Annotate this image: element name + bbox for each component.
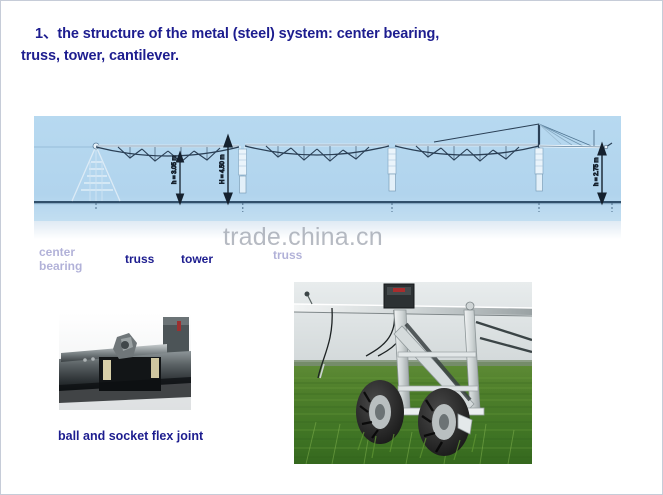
diagram-label-tower: tower bbox=[181, 253, 213, 267]
irrigation-system-diagram: h = 3.05 m H = 4.50 m bbox=[34, 116, 621, 221]
diagram-label-center-bearing: center bearing bbox=[39, 246, 82, 274]
photo-ball-and-socket-flex-joint bbox=[59, 313, 191, 410]
ground-line bbox=[34, 201, 621, 204]
dimension-text-h2: h = 2.75 m bbox=[594, 157, 600, 186]
photo-pivot-svg bbox=[294, 282, 532, 464]
photo-pivot-drive-tower bbox=[294, 282, 532, 464]
photo-joint-svg bbox=[59, 313, 191, 410]
page-title-line-1: 1、the structure of the metal (steel) sys… bbox=[21, 23, 631, 45]
control-panel-box bbox=[384, 284, 414, 308]
page-title: 1、the structure of the metal (steel) sys… bbox=[21, 23, 631, 68]
photo-caption-flex-joint: ball and socket flex joint bbox=[58, 429, 203, 443]
diagram-label-truss-right: truss bbox=[273, 249, 302, 263]
dimension-text-h1: h = 3.05 m bbox=[172, 155, 178, 184]
dimension-text-H: H = 4.50 m bbox=[220, 154, 226, 184]
diagram-ground-band bbox=[34, 221, 621, 239]
diagram-svg: h = 3.05 m H = 4.50 m bbox=[34, 116, 621, 221]
page-title-line-2: truss, tower, cantilever. bbox=[21, 45, 631, 67]
slide-page: 1、the structure of the metal (steel) sys… bbox=[0, 0, 663, 495]
diagram-label-truss-left: truss bbox=[125, 253, 154, 267]
